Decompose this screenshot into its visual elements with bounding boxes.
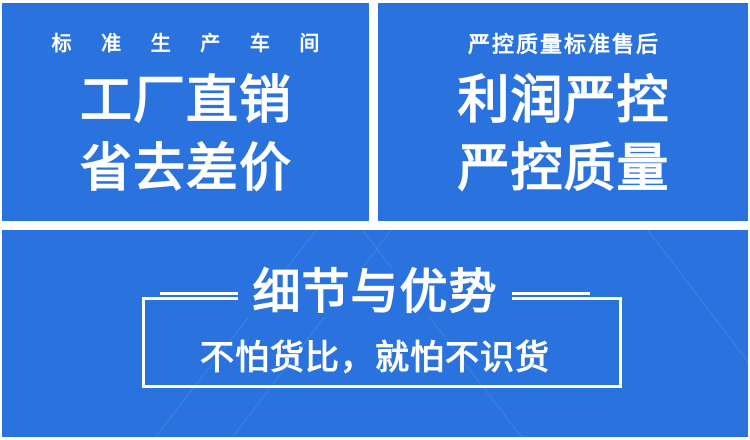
panel-left-headline-line1: 工厂直销: [2, 75, 369, 127]
rule-right-icon: [512, 292, 590, 295]
panel-right-headline-line1: 利润严控: [378, 75, 748, 127]
panel-factory-direct: 标 准 生 产 车 间 工厂直销 省去差价: [2, 3, 369, 221]
panel-left-headline-line2: 省去差价: [2, 143, 369, 195]
panel-quality-control: 严控质量标准售后 利润严控 严控质量: [378, 3, 748, 221]
rule-left-icon: [160, 292, 238, 295]
panel-right-kicker: 严控质量标准售后: [378, 34, 748, 56]
panel-right-headline-line2: 严控质量: [378, 143, 748, 195]
promo-banner: 标 准 生 产 车 间 工厂直销 省去差价 严控质量标准售后 利润严控 严控质量…: [0, 0, 750, 440]
details-subtitle: 不怕货比，就怕不识货: [2, 341, 748, 375]
panel-details-advantages: 细节与优势 不怕货比，就怕不识货: [2, 230, 748, 437]
panel-left-kicker: 标 准 生 产 车 间: [2, 34, 369, 54]
